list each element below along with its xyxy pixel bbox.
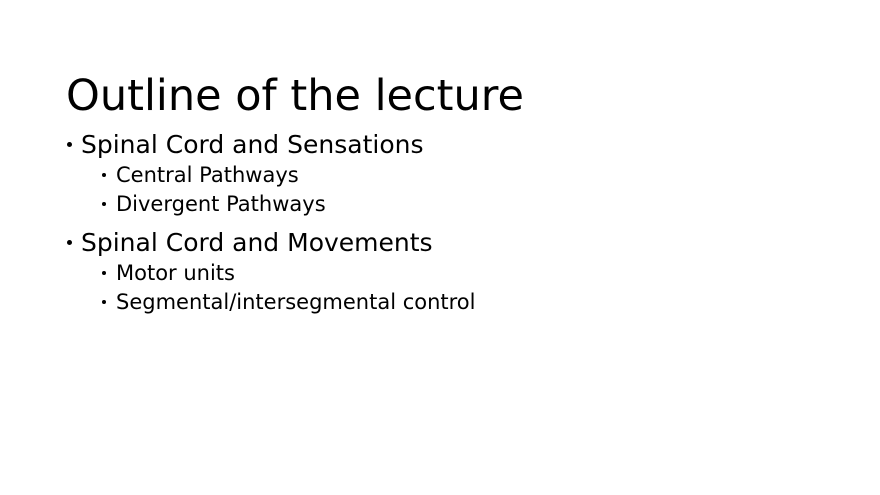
- outline-sublist: Central Pathways Divergent Pathways: [81, 161, 880, 219]
- outline-item-level1[interactable]: Spinal Cord and Movements Motor units Se…: [0, 226, 880, 317]
- outline-item-label: Motor units: [116, 261, 235, 285]
- outline-item-label: Spinal Cord and Sensations: [81, 130, 423, 159]
- outline-item-label: Divergent Pathways: [116, 192, 326, 216]
- outline-sublist: Motor units Segmental/intersegmental con…: [81, 259, 880, 317]
- slide: Outline of the lecture Spinal Cord and S…: [0, 0, 880, 495]
- outline-item-level2[interactable]: Divergent Pathways: [0, 190, 880, 219]
- outline-item-level2[interactable]: Central Pathways: [0, 161, 880, 190]
- round-bullet-icon: [102, 300, 106, 304]
- outline-item-label: Spinal Cord and Movements: [81, 228, 433, 257]
- outline-list: Spinal Cord and Sensations Central Pathw…: [0, 128, 880, 317]
- outline-item-level2[interactable]: Motor units: [0, 259, 880, 288]
- page-title: Outline of the lecture: [66, 73, 826, 120]
- round-bullet-icon: [102, 173, 106, 177]
- round-bullet-icon: [102, 202, 106, 206]
- round-bullet-icon: [67, 240, 72, 245]
- round-bullet-icon: [102, 271, 106, 275]
- outline-item-level2[interactable]: Segmental/intersegmental control: [0, 288, 880, 317]
- outline-item-label: Central Pathways: [116, 163, 299, 187]
- outline-item-level1[interactable]: Spinal Cord and Sensations Central Pathw…: [0, 128, 880, 219]
- outline-body: Spinal Cord and Sensations Central Pathw…: [0, 128, 880, 317]
- outline-item-label: Segmental/intersegmental control: [116, 290, 476, 314]
- round-bullet-icon: [67, 142, 72, 147]
